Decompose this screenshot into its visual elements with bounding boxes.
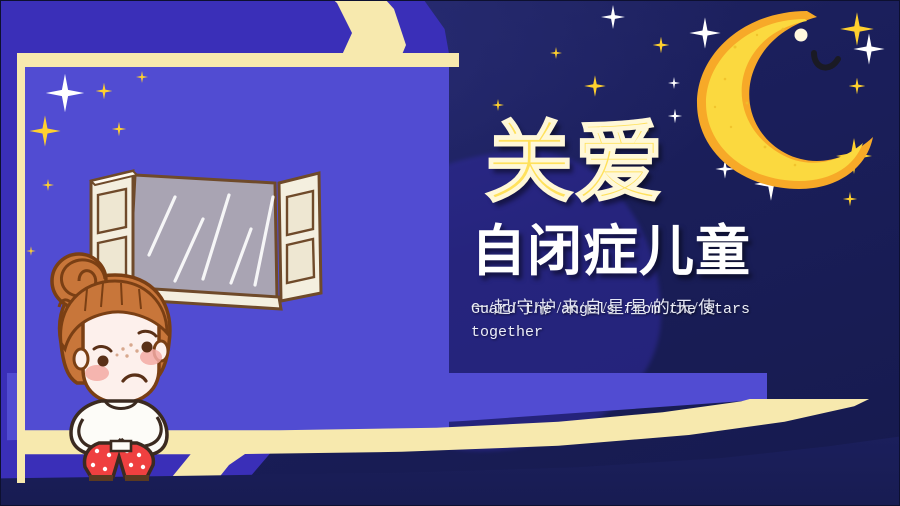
poster-canvas: 关爱 自闭症儿童 一/起/守/护/来/自/星/星/的/天/使 Guard the… [0, 0, 900, 506]
page-subtitle: 自闭症儿童 [471, 223, 871, 281]
panel-cream-left-edge [17, 53, 25, 483]
sad-girl-illustration [27, 251, 202, 481]
page-title: 关爱 [471, 121, 871, 209]
panel-cream-top-edge [17, 53, 459, 67]
tagline-english: Guard the angels from the stars together [471, 299, 771, 344]
title-group: 关爱 自闭症儿童 一/起/守/护/来/自/星/星/的/天/使 Guard the… [471, 121, 871, 344]
